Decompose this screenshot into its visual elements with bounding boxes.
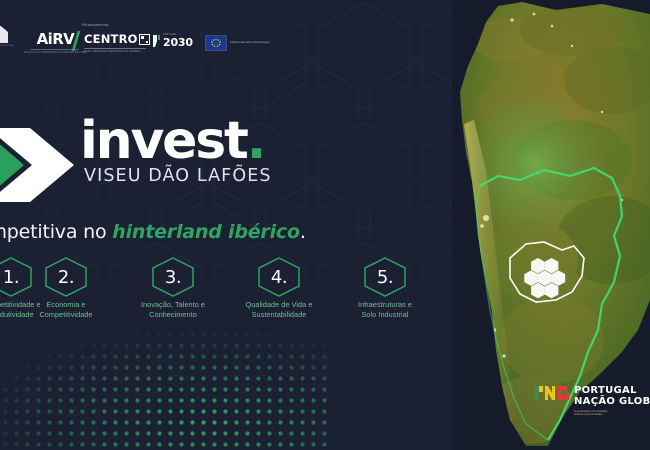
pillar-item-2[interactable]: 2. Economia e Competitividade xyxy=(15,256,117,320)
halftone-dot-pattern xyxy=(0,318,330,450)
pillar-hexagon-5: 5. xyxy=(362,256,408,298)
pillar-item-3[interactable]: 3. Inovação, Talento e Conhecimento xyxy=(122,256,224,320)
municipality-logo-subtitle: CÂMARA MUNICIPAL xyxy=(0,45,14,48)
tagline-period: . xyxy=(300,221,306,243)
funding-label: Financiamento: xyxy=(82,23,109,27)
airv-wordmark: AiRV xyxy=(37,32,75,47)
municipality-logo: CÂMARA MUNICIPAL xyxy=(0,26,14,56)
iberia-satellite-map xyxy=(452,0,650,450)
pillar-label-4: Qualidade de Vida e Sustentabilidade xyxy=(246,300,313,320)
pillar-number-2: 2. xyxy=(58,267,74,288)
png-title-line-2: NAÇÃO GLOBAL xyxy=(574,397,650,408)
pillar-item-5[interactable]: 5. Infraestruturas e Solo Industrial xyxy=(334,256,436,320)
pillar-label-2: Economia e Competitividade xyxy=(39,300,92,320)
tagline: Competitiva no hinterland ibérico. xyxy=(0,221,384,243)
pillar-hexagon-4: 4. xyxy=(256,256,302,298)
pillar-item-4[interactable]: 4. Qualidade de Vida e Sustentabilidade xyxy=(228,256,330,320)
invest-word-text: invest xyxy=(80,111,247,171)
municipality-mark-icon xyxy=(0,26,8,43)
tagline-lead: Competitiva no xyxy=(0,221,112,243)
funding-logo-bar: CÂMARA MUNICIPAL AiRV ASSOCIAÇÃO EMPRESA… xyxy=(0,8,470,56)
centro-square-icon xyxy=(139,34,150,45)
invest-chevron-icon xyxy=(0,126,86,204)
centro-logo: CENTRO 2030 | PROGRAMA REGIONAL DO CENTR… xyxy=(84,34,150,53)
invest-wordmark: invest. xyxy=(80,118,310,166)
png-blocks-icon xyxy=(535,386,569,400)
logo-separator-slash xyxy=(71,30,81,52)
pillar-list: 1. Competitividade e Produtividade 2. Ec… xyxy=(0,256,470,328)
pillar-label-5: Infraestruturas e Solo Industrial xyxy=(358,300,412,320)
pillar-number-3: 3. xyxy=(165,267,181,288)
portugal-2030-number: 2030 xyxy=(163,37,193,48)
pillar-label-3: Inovação, Talento e Conhecimento xyxy=(141,300,205,320)
eu-flag-icon xyxy=(205,35,227,51)
portugal-2030-logo: PORTUGAL 2030 xyxy=(152,34,193,48)
png-tagline: Conectando comunidades, criando oportuni… xyxy=(574,410,650,418)
portugal-2030-icon xyxy=(152,34,161,48)
eu-cofinancing-text: Cofinanciado pela União Europeia xyxy=(230,41,269,45)
tagline-emphasis: hinterland ibérico xyxy=(112,221,300,243)
poster-canvas: CÂMARA MUNICIPAL AiRV ASSOCIAÇÃO EMPRESA… xyxy=(0,0,650,450)
invest-subtitle: VISEU DÃO LAFÕES xyxy=(84,168,310,186)
portugal-nacao-global-logo: PORTUGAL NAÇÃO GLOBAL Conectando comunid… xyxy=(535,386,650,417)
pillar-number-5: 5. xyxy=(377,267,393,288)
centro-subtitle: 2030 | PROGRAMA REGIONAL DO CENTRO xyxy=(84,50,150,53)
pillar-hexagon-3: 3. xyxy=(150,256,196,298)
invest-dot: . xyxy=(247,111,265,171)
centro-wordmark: CENTRO xyxy=(84,34,138,46)
pillar-number-4: 4. xyxy=(271,267,287,288)
centro-divider xyxy=(84,48,146,49)
eu-cofinancing-logo: Cofinanciado pela União Europeia xyxy=(205,35,269,51)
pillar-hexagon-2: 2. xyxy=(43,256,89,298)
invest-brand-lockup: invest. VISEU DÃO LAFÕES xyxy=(0,118,308,210)
